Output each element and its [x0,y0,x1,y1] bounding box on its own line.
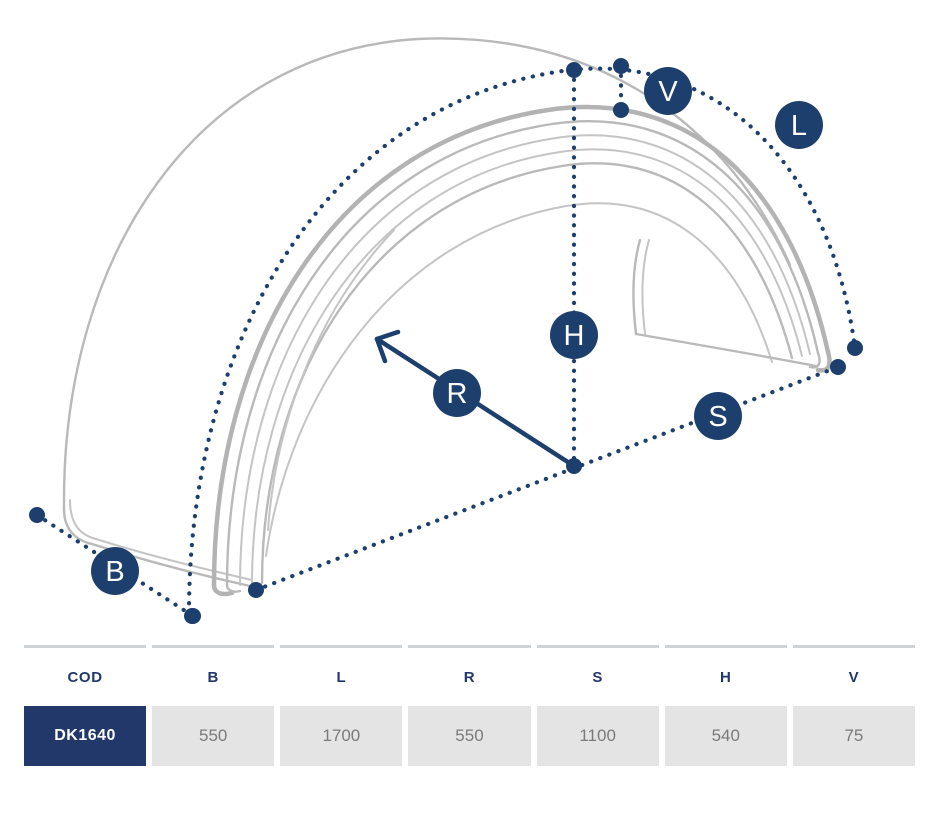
badge-B-label: B [105,556,124,588]
table-header-v: V [793,668,915,688]
l-dimension-line [189,69,855,613]
badge-S: S [694,392,742,440]
badge-V: V [644,67,692,115]
b-left-dot [29,507,45,523]
table-header-row: COD B L R S H V [24,668,915,688]
badge-L-label: L [791,110,807,142]
column-rule [408,645,530,648]
h-top-dot [566,62,582,78]
badge-S-label: S [708,401,727,433]
table-header-r: R [408,668,530,688]
table-header-b: B [152,668,274,688]
s-dimension-line [256,367,838,590]
dimension-L [184,69,863,624]
table-cell-r: 550 [408,706,530,766]
dimension-S [248,359,846,598]
table-cell-h: 540 [665,706,787,766]
s-right-dot [830,359,846,375]
badge-R-label: R [447,378,468,410]
column-rule [793,645,915,648]
table-top-rules [24,645,915,648]
table-row: DK1640 550 1700 550 1100 540 75 [24,706,915,766]
s-left-dot [248,582,264,598]
dimension-V [613,58,629,118]
mudguard-outline [64,38,830,594]
table-cell-b: 550 [152,706,274,766]
b-right-dot [185,608,201,624]
table-header-s: S [537,668,659,688]
column-rule [537,645,659,648]
table-cell-code: DK1640 [24,706,146,766]
v-top-dot [613,58,629,74]
table-cell-v: 75 [793,706,915,766]
page-root: .gl { fill:none; stroke:#b9b9b9; stroke-… [0,0,939,815]
l-end-dot [847,340,863,356]
table-cell-s: 1100 [537,706,659,766]
badge-V-label: V [658,76,678,108]
column-rule [152,645,274,648]
dimension-H [566,62,582,474]
table-cell-l: 1700 [280,706,402,766]
column-rule [24,645,146,648]
table-header-cod: COD [24,668,146,688]
column-rule [280,645,402,648]
badge-H-label: H [564,320,585,352]
diagram-svg: .gl { fill:none; stroke:#b9b9b9; stroke-… [0,0,939,640]
r-arrow-head [377,332,398,339]
badge-H: H [550,311,598,359]
mudguard-diagram: .gl { fill:none; stroke:#b9b9b9; stroke-… [0,0,939,640]
badge-B: B [91,547,139,595]
table-header-h: H [665,668,787,688]
badge-R: R [433,369,481,417]
table-header-l: L [280,668,402,688]
badge-L: L [775,101,823,149]
column-rule [665,645,787,648]
v-bottom-dot [613,102,629,118]
specification-table: COD B L R S H V DK1640 550 1700 550 1100… [0,640,939,815]
